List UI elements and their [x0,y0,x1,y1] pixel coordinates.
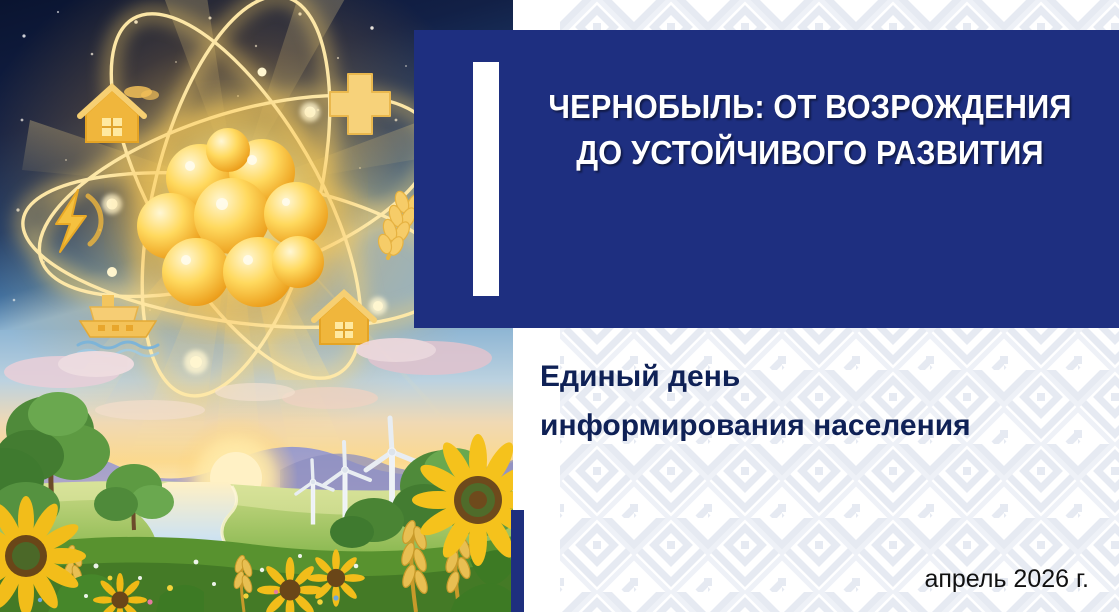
blue-accent-bar [511,510,524,612]
page-title: ЧЕРНОБЫЛЬ: ОТ ВОЗРОЖДЕНИЯ ДО УСТОЙЧИВОГО… [540,84,1079,176]
title-vertical-rule [473,62,499,296]
page-subtitle: Единый день информирования населения [540,352,1080,450]
presentation-slide: ЧЕРНОБЫЛЬ: ОТ ВОЗРОЖДЕНИЯ ДО УСТОЙЧИВОГО… [0,0,1119,612]
slide-date: апрель 2026 г. [924,565,1089,594]
atom-nucleus [126,102,346,322]
title-panel [414,30,1119,328]
